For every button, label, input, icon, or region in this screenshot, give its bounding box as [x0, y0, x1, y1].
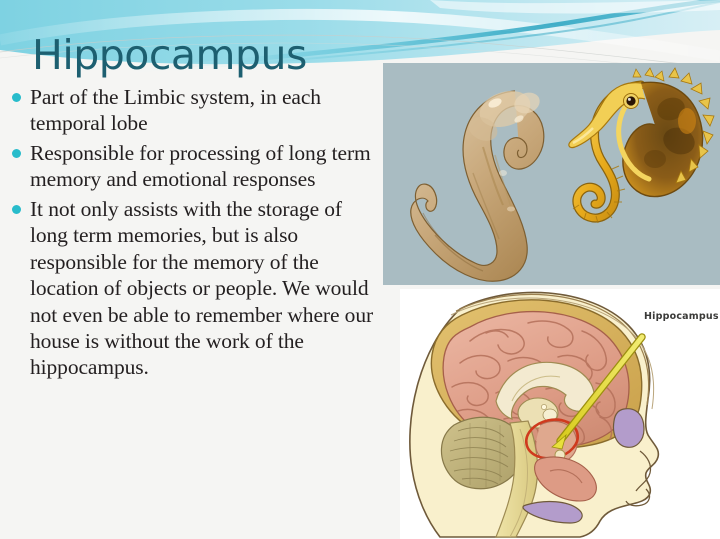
presentation-slide: Hippocampus Part of the Limbic system, i…	[0, 0, 720, 539]
hippocampus-specimen-photo	[383, 63, 720, 285]
list-item: Part of the Limbic system, in each tempo…	[12, 84, 380, 137]
bullet-dot-icon	[12, 149, 21, 158]
bullet-list: Part of the Limbic system, in each tempo…	[12, 84, 380, 384]
list-item: Responsible for processing of long term …	[12, 140, 380, 193]
sagittal-brain-diagram	[400, 289, 720, 539]
bullet-dot-icon	[12, 93, 21, 102]
bullet-dot-icon	[12, 205, 21, 214]
hippocampus-callout-label: Hippocampus	[644, 311, 719, 322]
list-item: It not only assists with the storage of …	[12, 196, 380, 381]
page-title: Hippocampus	[32, 34, 307, 77]
list-item-text: It not only assists with the storage of …	[30, 196, 380, 381]
list-item-text: Part of the Limbic system, in each tempo…	[30, 84, 380, 137]
list-item-text: Responsible for processing of long term …	[30, 140, 380, 193]
